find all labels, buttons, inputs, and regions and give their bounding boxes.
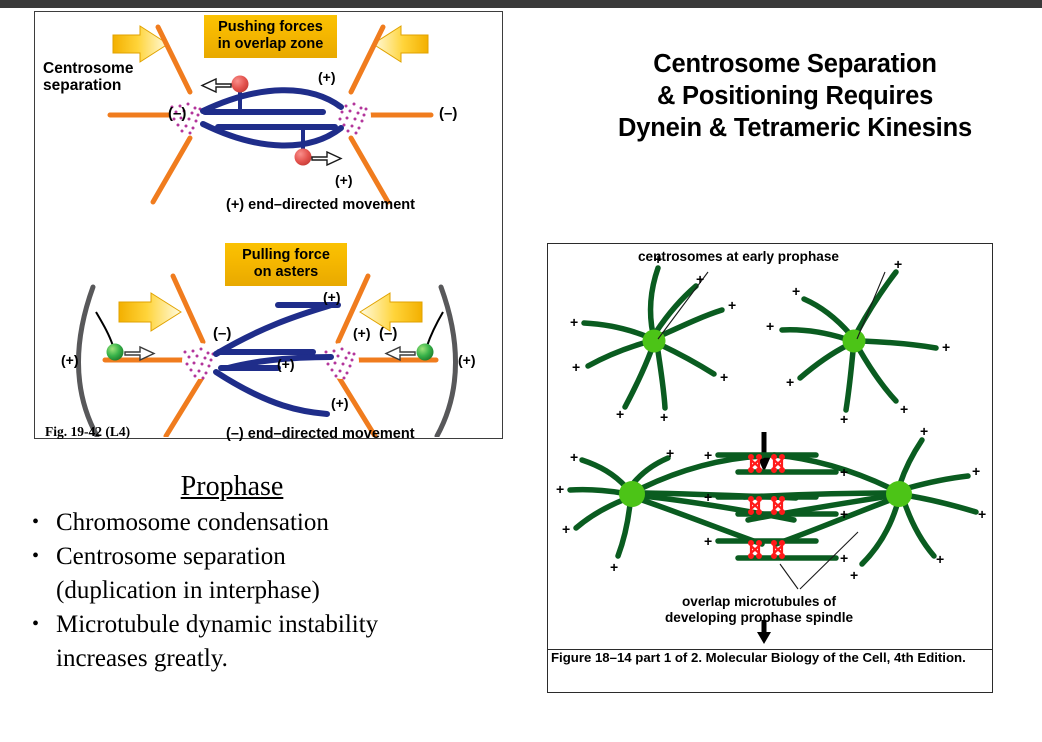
- figure-number-label: Fig. 19-42 (L4): [45, 424, 130, 440]
- overlap-pair-3: [718, 541, 836, 558]
- list-item: increases greatly.: [12, 642, 482, 676]
- list-item: • Centrosome separation: [12, 540, 482, 574]
- plus-label-b4: (+): [331, 395, 349, 411]
- svg-text:+: +: [900, 401, 908, 417]
- cell-cortex-right: [437, 287, 456, 436]
- svg-text:+: +: [786, 374, 794, 390]
- centrosome-top-right: [843, 330, 866, 353]
- svg-text:+: +: [766, 318, 774, 334]
- plus-end-label-top: (+): [318, 69, 336, 85]
- list-item: • Microtubule dynamic instability: [12, 608, 482, 642]
- list-item: (duplication in interphase): [12, 574, 482, 608]
- plus-end-label-bottom: (+): [335, 172, 353, 188]
- overlap-microtubules-label: overlap microtubules of developing proph…: [644, 594, 874, 626]
- svg-text:+: +: [978, 506, 986, 522]
- svg-text:+: +: [704, 489, 712, 505]
- svg-text:+: +: [660, 409, 668, 425]
- slide-title: Centrosome Separation & Positioning Requ…: [553, 48, 1037, 144]
- svg-text:+: +: [840, 550, 848, 566]
- list-item-label: Centrosome separation: [56, 543, 286, 570]
- minus-end-label-left-bottom: (–): [213, 325, 231, 342]
- list-item: • Chromosome condensation: [12, 506, 482, 540]
- svg-text:+: +: [936, 551, 944, 567]
- svg-text:+: +: [840, 411, 848, 427]
- list-item-label: Chromosome condensation: [56, 509, 329, 536]
- prophase-text-block: Prophase • Chromosome condensation • Cen…: [12, 470, 482, 676]
- plus-label-cortex-left: (+): [61, 352, 79, 368]
- minus-end-label-right-bottom: (–): [379, 325, 397, 342]
- centrosome-right-bottom: [323, 343, 359, 380]
- svg-text:+: +: [562, 521, 570, 537]
- prophase-heading: Prophase: [0, 470, 482, 504]
- svg-text:+: +: [728, 297, 736, 313]
- svg-text:+: +: [704, 447, 712, 463]
- svg-text:+: +: [850, 567, 858, 583]
- right-figure-graphic: + + + + + + + + + + + + + + +: [548, 244, 991, 648]
- list-item-label: increases greatly.: [56, 645, 228, 672]
- pushing-forces-badge: Pushing forces in overlap zone: [204, 15, 337, 58]
- slide-title-line1: Centrosome Separation: [653, 50, 936, 78]
- plus-end-directed-caption: (+) end–directed movement: [226, 197, 415, 213]
- svg-text:+: +: [972, 463, 980, 479]
- svg-text:+: +: [920, 423, 928, 439]
- svg-text:+: +: [942, 339, 950, 355]
- svg-text:+: +: [572, 359, 580, 375]
- list-item-label: Microtubule dynamic instability: [56, 611, 378, 638]
- top-bar: [0, 0, 1042, 8]
- minus-end-directed-caption: (–) end–directed movement: [226, 426, 415, 442]
- bullet-glyph-icon: •: [32, 607, 39, 641]
- left-figure-panel: Centrosome separation Pushing forces in …: [34, 11, 503, 439]
- svg-text:+: +: [792, 283, 800, 299]
- svg-text:+: +: [840, 506, 848, 522]
- centrosome-spindle-right: [886, 481, 912, 507]
- svg-text:+: +: [840, 464, 848, 480]
- svg-text:+: +: [616, 406, 624, 422]
- bullet-glyph-icon: •: [32, 539, 39, 573]
- centrosome-separation-label: Centrosome separation: [43, 60, 133, 94]
- svg-text:+: +: [570, 449, 578, 465]
- centrosome-spindle-left: [619, 481, 645, 507]
- minus-end-label-left-top: (–): [168, 105, 186, 122]
- prophase-bullet-list: • Chromosome condensation • Centrosome s…: [12, 506, 482, 676]
- centrosome-left-bottom: [182, 343, 218, 380]
- plus-label-b2: (+): [353, 325, 371, 341]
- plus-label-b3: (+): [277, 356, 295, 372]
- svg-text:+: +: [556, 481, 564, 497]
- svg-text:+: +: [610, 559, 618, 575]
- plus-label-b1: (+): [323, 289, 341, 305]
- centrosomes-early-prophase-label: centrosomes at early prophase: [638, 249, 839, 264]
- svg-text:+: +: [696, 271, 704, 287]
- svg-text:+: +: [666, 445, 674, 461]
- right-figure-panel: + + + + + + + + + + + + + + +: [547, 243, 993, 693]
- svg-text:+: +: [570, 314, 578, 330]
- svg-text:+: +: [704, 533, 712, 549]
- right-figure-caption: Figure 18–14 part 1 of 2. Molecular Biol…: [548, 649, 992, 665]
- plus-label-cortex-right: (+): [458, 352, 476, 368]
- pulling-force-badge: Pulling force on asters: [225, 243, 347, 286]
- spindle-right-aster-microtubules: [744, 440, 976, 564]
- svg-text:+: +: [894, 256, 902, 272]
- list-item-label: (duplication in interphase): [56, 577, 320, 604]
- slide-title-line3: Dynein & Tetrameric Kinesins: [618, 114, 972, 142]
- minus-end-label-right-top: (–): [439, 105, 457, 122]
- pull-arrow-left-icon: [119, 293, 181, 331]
- svg-text:+: +: [720, 369, 728, 385]
- centrosome-pointer-right: [857, 272, 885, 339]
- slide-title-line2: & Positioning Requires: [657, 82, 933, 110]
- cell-cortex-left: [78, 287, 97, 436]
- interpolar-microtubules-top: [203, 90, 341, 145]
- bullet-glyph-icon: •: [32, 505, 39, 539]
